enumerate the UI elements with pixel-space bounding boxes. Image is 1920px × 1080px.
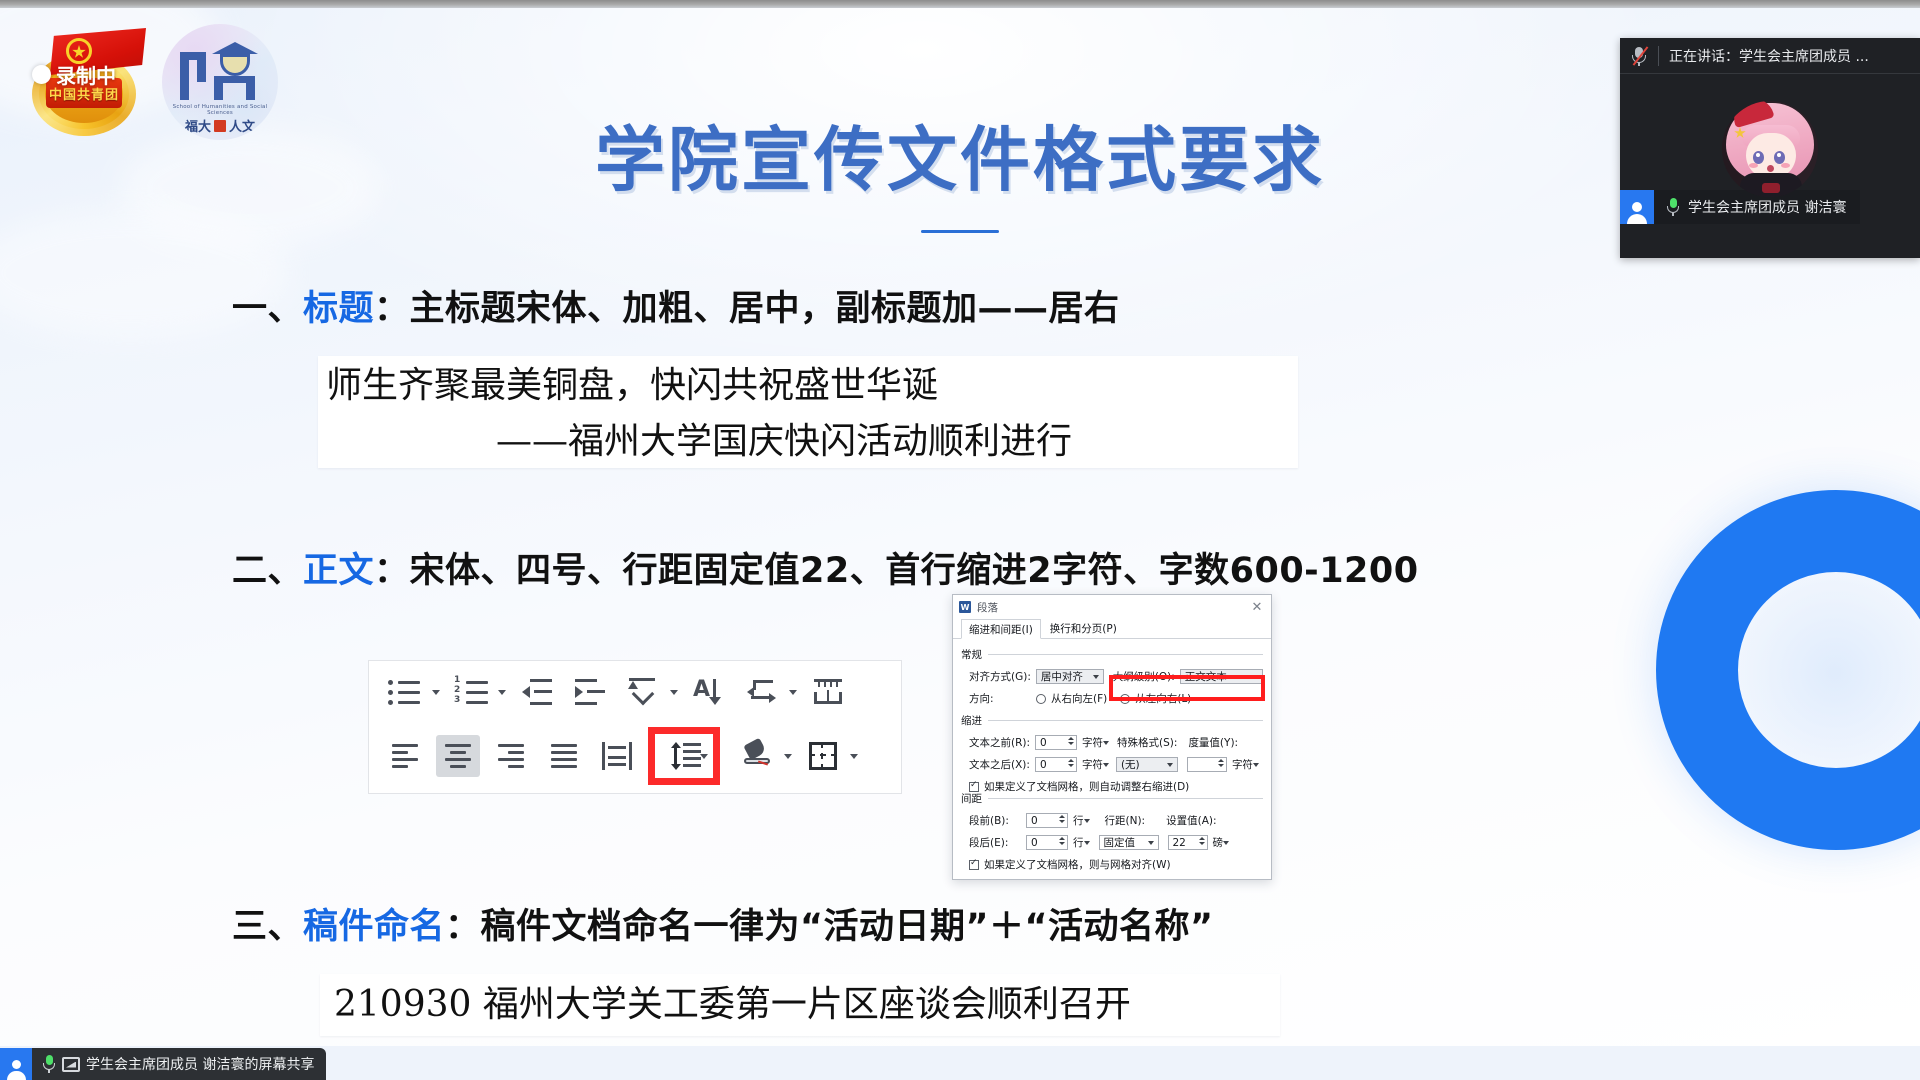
section-1-colon: ： <box>374 289 410 329</box>
screen-share-icon <box>62 1057 80 1072</box>
section-1-example-line-1: 师生齐聚最美铜盘，快闪共祝盛世华诞 <box>326 365 938 406</box>
section-heading-1: 一、标题：主标题宋体、加粗、居中，副标题加——居右 <box>232 280 1120 331</box>
indent-before-unit[interactable]: 字符 <box>1082 735 1109 750</box>
measure-value-unit[interactable]: 字符 <box>1232 757 1259 772</box>
alignment-value: 居中对齐 <box>1041 669 1083 684</box>
multilevel-list-icon <box>621 671 665 713</box>
line-spacing-value: 固定值 <box>1104 835 1136 850</box>
outline-level-value: 正文文本 <box>1185 669 1227 684</box>
show-formatting-marks-icon <box>740 671 784 713</box>
indent-before-value: 0 <box>1040 737 1047 749</box>
multilevel-list-chevron-down-icon <box>670 690 678 695</box>
general-group-label: 常规 <box>961 647 982 662</box>
indent-before-row: 文本之前(R): 0 字符 特殊格式(S): 度量值(Y): <box>961 735 1263 750</box>
tab-line-and-page-breaks[interactable]: 换行和分页(P) <box>1043 619 1124 638</box>
space-after-row: 段后(E): 0 行 固定值 22 磅 <box>961 835 1263 850</box>
indent-group-label: 缩进 <box>961 713 982 728</box>
microphone-muted-icon[interactable] <box>1630 46 1648 66</box>
indent-after-value: 0 <box>1040 759 1047 771</box>
section-1-number: 一、 <box>232 289 303 329</box>
space-before-stepper[interactable]: 0 <box>1026 813 1068 828</box>
indent-grid-checkbox[interactable] <box>969 782 979 792</box>
general-group: 常规 对齐方式(G): 居中对齐 大纲级别(O): 正文文本 方向: 从右向左(… <box>961 647 1263 706</box>
space-before-unit[interactable]: 行 <box>1073 813 1090 828</box>
align-center-icon <box>436 735 480 777</box>
section-3-number: 三、 <box>232 907 303 947</box>
line-spacing-chevron-down-icon <box>700 754 708 759</box>
spacing-grid-checkbox[interactable] <box>969 860 979 870</box>
direction-rtl-radio[interactable] <box>1036 694 1046 704</box>
justify-icon <box>542 735 586 777</box>
space-before-value: 0 <box>1031 815 1038 827</box>
microphone-active-icon <box>1666 198 1680 216</box>
show-formatting-marks-chevron-down-icon <box>789 690 797 695</box>
shading-icon <box>735 735 779 777</box>
indent-after-row: 文本之后(X): 0 字符 (无) 字符 <box>961 757 1263 772</box>
screen-share-top-border <box>0 0 1920 8</box>
close-icon[interactable]: ✕ <box>1249 599 1265 615</box>
line-spacing-select[interactable]: 固定值 <box>1099 835 1159 850</box>
section-1-keyword: 标题 <box>303 289 374 329</box>
section-3-example-line-1: 210930 福州大学关工委第一片区座谈会顺利召开 <box>334 984 1131 1025</box>
title-divider <box>921 230 999 233</box>
screen-share-status-bar: 学生会主席团成员 谢洁寰的屏幕共享 <box>0 1048 320 1080</box>
dialog-title: 段落 <box>977 600 998 615</box>
alignment-row: 对齐方式(G): 居中对齐 大纲级别(O): 正文文本 <box>961 669 1263 684</box>
section-1-example-line-2: ——福州大学国庆快闪活动顺利进行 <box>326 414 1290 470</box>
microphone-active-icon <box>42 1055 56 1073</box>
divider <box>1658 46 1659 66</box>
alignment-label: 对齐方式(G): <box>969 669 1031 684</box>
general-group-label-row: 常规 <box>961 647 1263 662</box>
section-3-example-box: 210930 福州大学关工委第一片区座谈会顺利召开 <box>320 974 1280 1036</box>
ruler-icon <box>806 671 850 713</box>
word-paragraph-dialog[interactable]: W 段落 ✕ 缩进和间距(I) 换行和分页(P) 常规 对齐方式(G): 居中对… <box>952 594 1272 880</box>
special-format-select[interactable]: (无) <box>1116 757 1178 772</box>
space-after-value: 0 <box>1031 837 1038 849</box>
direction-ltr-label: 从左向右(L) <box>1135 691 1191 706</box>
word-app-icon: W <box>959 601 971 613</box>
spacing-group-label-row: 间距 <box>961 791 1263 806</box>
dialog-tabs: 缩进和间距(I) 换行和分页(P) <box>953 619 1271 639</box>
align-left-icon <box>383 735 427 777</box>
indent-after-label: 文本之后(X): <box>969 757 1030 772</box>
direction-ltr-radio[interactable] <box>1120 694 1130 704</box>
direction-row: 方向: 从右向左(F) 从左向右(L) <box>961 691 1263 706</box>
outline-level-select[interactable]: 正文文本 <box>1180 669 1263 684</box>
section-2-body: 宋体、四号、行距固定值22、首行缩进2字符、字数600-1200 <box>410 551 1419 591</box>
space-before-label: 段前(B): <box>969 813 1021 828</box>
outline-level-label: 大纲级别(O): <box>1113 669 1175 684</box>
section-2-keyword: 正文 <box>303 551 374 591</box>
direction-rtl-label: 从右向左(F) <box>1051 691 1107 706</box>
space-after-label: 段后(E): <box>969 835 1021 850</box>
spacing-group-label: 间距 <box>961 791 982 806</box>
section-2-colon: ： <box>374 551 410 591</box>
numbered-list-icon: 1 2 3 <box>449 671 493 713</box>
special-format-label: 特殊格式(S): <box>1117 735 1177 750</box>
borders-chevron-down-icon <box>850 754 858 759</box>
indent-group: 缩进 文本之前(R): 0 字符 特殊格式(S): 度量值(Y): 文本之后(X… <box>961 713 1263 794</box>
alignment-select[interactable]: 居中对齐 <box>1036 669 1104 684</box>
indent-after-stepper[interactable]: 0 <box>1035 757 1077 772</box>
section-2-number: 二、 <box>232 551 303 591</box>
recording-label: 录制中 <box>56 60 116 89</box>
measure-value-stepper[interactable] <box>1187 757 1227 772</box>
section-3-colon: ： <box>445 907 481 947</box>
set-value-value: 22 <box>1173 837 1186 849</box>
section-3-keyword: 稿件命名 <box>303 907 445 947</box>
avatar <box>1722 101 1818 197</box>
space-after-stepper[interactable]: 0 <box>1026 835 1068 850</box>
recording-dot-icon <box>32 65 51 84</box>
set-value-label: 设置值(A): <box>1166 813 1216 828</box>
section-3-body: 稿件文档命名一律为“活动日期”＋“活动名称” <box>481 907 1214 947</box>
section-heading-3: 三、稿件命名：稿件文档命名一律为“活动日期”＋“活动名称” <box>232 898 1214 949</box>
tab-indent-and-spacing[interactable]: 缩进和间距(I) <box>961 619 1041 639</box>
numbered-list-chevron-down-icon <box>498 690 506 695</box>
zoom-video-thumbnail[interactable]: 正在讲话：学生会主席团成员 ... 学生会主席团成员 谢洁寰 <box>1620 38 1920 258</box>
active-speaker-label: 正在讲话：学生会主席团成员 ... <box>1669 46 1869 66</box>
indent-before-label: 文本之前(R): <box>969 735 1030 750</box>
spacing-grid-checkbox-label: 如果定义了文档网格，则与网格对齐(W) <box>984 857 1171 872</box>
direction-label: 方向: <box>969 691 1031 706</box>
recording-indicator: 录制中 <box>32 60 116 89</box>
sharer-avatar-icon <box>0 1048 32 1080</box>
indent-after-unit[interactable]: 字符 <box>1082 757 1109 772</box>
participant-name-bar: 学生会主席团成员 谢洁寰 <box>1620 190 1920 224</box>
sort-icon: A <box>687 671 731 713</box>
participant-avatar-icon <box>1620 190 1654 224</box>
indent-group-label-row: 缩进 <box>961 713 1263 728</box>
section-heading-2: 二、正文：宋体、四号、行距固定值22、首行缩进2字符、字数600-1200 <box>232 542 1419 593</box>
line-spacing-label: 行距(N): <box>1105 813 1146 828</box>
space-after-unit[interactable]: 行 <box>1073 835 1090 850</box>
screen-share-label: 学生会主席团成员 谢洁寰的屏幕共享 <box>86 1054 314 1074</box>
borders-icon <box>801 735 845 777</box>
distribute-text-icon <box>595 735 639 777</box>
section-1-example-box: 师生齐聚最美铜盘，快闪共祝盛世华诞 ——福州大学国庆快闪活动顺利进行 <box>318 356 1298 468</box>
measure-value-label: 度量值(Y): <box>1188 735 1238 750</box>
spacing-group: 间距 段前(B): 0 行 行距(N): 设置值(A): 段后(E): 0 行 <box>961 791 1263 872</box>
special-format-value: (无) <box>1121 757 1140 772</box>
active-speaker-bar: 正在讲话：学生会主席团成员 ... <box>1620 38 1920 74</box>
space-before-row: 段前(B): 0 行 行距(N): 设置值(A): <box>961 813 1263 828</box>
line-spacing-highlight-box <box>648 727 720 785</box>
spacing-grid-checkbox-row[interactable]: 如果定义了文档网格，则与网格对齐(W) <box>961 857 1263 872</box>
dialog-title-bar: W 段落 ✕ <box>953 595 1271 619</box>
video-tile-body: 学生会主席团成员 谢洁寰 <box>1620 74 1920 224</box>
bulleted-list-icon <box>383 671 427 713</box>
bulleted-list-chevron-down-icon <box>432 690 440 695</box>
increase-indent-icon <box>568 671 612 713</box>
set-value-stepper[interactable]: 22 <box>1168 835 1208 850</box>
set-value-unit[interactable]: 磅 <box>1213 835 1230 850</box>
section-1-body: 主标题宋体、加粗、居中，副标题加——居右 <box>410 289 1120 329</box>
shading-chevron-down-icon <box>784 754 792 759</box>
align-right-icon <box>489 735 533 777</box>
word-paragraph-toolbar-image: 1 2 3 <box>368 660 902 794</box>
participant-name: 学生会主席团成员 谢洁寰 <box>1688 197 1846 217</box>
decrease-indent-icon <box>515 671 559 713</box>
indent-before-stepper[interactable]: 0 <box>1035 735 1077 750</box>
